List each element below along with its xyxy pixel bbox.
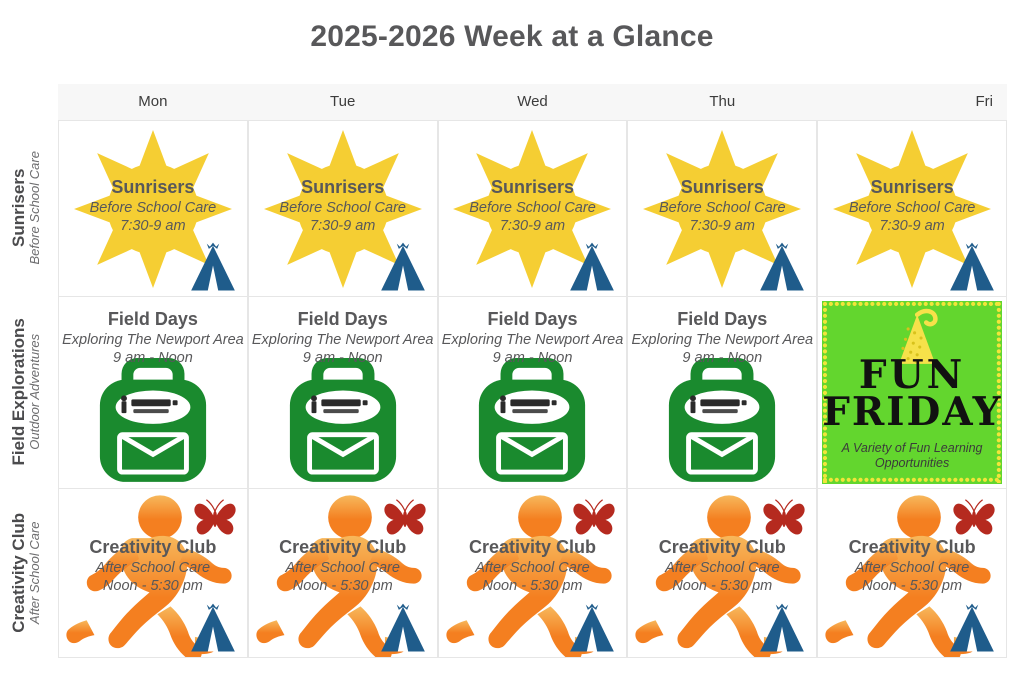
fun-note-line-2: Opportunities (830, 456, 994, 472)
butterfly-icon (760, 495, 808, 539)
schedule-cell-sunrisers-thu[interactable]: SunrisersBefore School Care7:30-9 am (627, 120, 817, 296)
schedule-row-sunrisers: SunrisersBefore School Care7:30-9 amSunr… (58, 120, 1007, 296)
backpack-icon (284, 352, 402, 484)
schedule-cell-creativity-club-tue[interactable]: Creativity ClubAfter School CareNoon - 5… (248, 488, 438, 658)
day-header-fri[interactable]: Fri (817, 84, 1007, 120)
cell-title: Field Days (439, 309, 627, 331)
cell-title: Field Days (59, 309, 247, 331)
fun-fridays-note: A Variety of Fun LearningOpportunities (830, 441, 994, 472)
teepee-icon (187, 597, 239, 655)
row-label-field-explorations: Field ExplorationsOutdoor Adventures (0, 296, 52, 488)
schedule-cell-field-explorations-tue[interactable]: Field DaysExploring The Newport Area9 am… (248, 296, 438, 488)
backpack-icon (473, 352, 591, 484)
schedule-grid: MonTueWedThuFri SunrisersBefore School C… (58, 84, 1007, 658)
row-label-title: Sunrisers (9, 169, 28, 247)
cell-subtitle: Exploring The Newport Area (628, 331, 816, 350)
fun-word-2: Fridays (822, 394, 1002, 431)
schedule-cell-creativity-club-mon[interactable]: Creativity ClubAfter School CareNoon - 5… (58, 488, 248, 658)
schedule-cell-sunrisers-fri[interactable]: SunrisersBefore School Care7:30-9 am (817, 120, 1007, 296)
row-label-title: Creativity Club (9, 513, 28, 633)
schedule-row-creativity-club: Creativity ClubAfter School CareNoon - 5… (58, 488, 1007, 658)
teepee-icon (566, 597, 618, 655)
page-title: 2025-2026 Week at a Glance (0, 20, 1024, 54)
butterfly-icon (570, 495, 618, 539)
schedule-row-field-explorations: Field DaysExploring The Newport Area9 am… (58, 296, 1007, 488)
day-header-tue[interactable]: Tue (248, 84, 438, 120)
day-header-row: MonTueWedThuFri (58, 84, 1007, 121)
fun-fridays-wordmark: FunFridays (822, 357, 1002, 432)
teepee-icon (946, 597, 998, 655)
teepee-icon (187, 236, 239, 294)
cell-subtitle: Exploring The Newport Area (59, 331, 247, 350)
cell-title: Field Days (249, 309, 437, 331)
row-label-sunrisers: SunrisersBefore School Care (0, 120, 52, 296)
schedule-cell-field-explorations-thu[interactable]: Field DaysExploring The Newport Area9 am… (627, 296, 817, 488)
butterfly-icon (950, 495, 998, 539)
schedule-cell-sunrisers-mon[interactable]: SunrisersBefore School Care7:30-9 am (58, 120, 248, 296)
row-label-sublabel: Outdoor Adventures (28, 334, 43, 450)
cell-title: Field Days (628, 309, 816, 331)
schedule-cell-sunrisers-wed[interactable]: SunrisersBefore School Care7:30-9 am (438, 120, 628, 296)
schedule-cell-creativity-club-thu[interactable]: Creativity ClubAfter School CareNoon - 5… (627, 488, 817, 658)
teepee-icon (377, 597, 429, 655)
fun-note-line-1: A Variety of Fun Learning (830, 441, 994, 457)
backpack-icon (663, 352, 781, 484)
schedule-cell-creativity-club-wed[interactable]: Creativity ClubAfter School CareNoon - 5… (438, 488, 628, 658)
day-header-mon[interactable]: Mon (58, 84, 248, 120)
cell-subtitle: Exploring The Newport Area (439, 331, 627, 350)
schedule-cell-field-explorations-fri[interactable]: FunFridaysA Variety of Fun LearningOppor… (817, 296, 1007, 488)
cell-subtitle: Exploring The Newport Area (249, 331, 437, 350)
row-label-title: Field Explorations (9, 318, 28, 465)
teepee-icon (946, 236, 998, 294)
schedule-cell-sunrisers-tue[interactable]: SunrisersBefore School Care7:30-9 am (248, 120, 438, 296)
day-header-thu[interactable]: Thu (627, 84, 817, 120)
row-label-sublabel: After School Care (28, 522, 43, 625)
butterfly-icon (191, 495, 239, 539)
teepee-icon (377, 236, 429, 294)
schedule-cell-field-explorations-mon[interactable]: Field DaysExploring The Newport Area9 am… (58, 296, 248, 488)
day-header-wed[interactable]: Wed (438, 84, 628, 120)
backpack-icon (94, 352, 212, 484)
butterfly-icon (381, 495, 429, 539)
schedule-cell-creativity-club-fri[interactable]: Creativity ClubAfter School CareNoon - 5… (817, 488, 1007, 658)
fun-fridays-tile[interactable]: FunFridaysA Variety of Fun LearningOppor… (822, 301, 1002, 484)
schedule-cell-field-explorations-wed[interactable]: Field DaysExploring The Newport Area9 am… (438, 296, 628, 488)
teepee-icon (756, 236, 808, 294)
teepee-icon (756, 597, 808, 655)
row-label-sublabel: Before School Care (28, 151, 43, 264)
row-label-creativity-club: Creativity ClubAfter School Care (0, 488, 52, 658)
teepee-icon (566, 236, 618, 294)
